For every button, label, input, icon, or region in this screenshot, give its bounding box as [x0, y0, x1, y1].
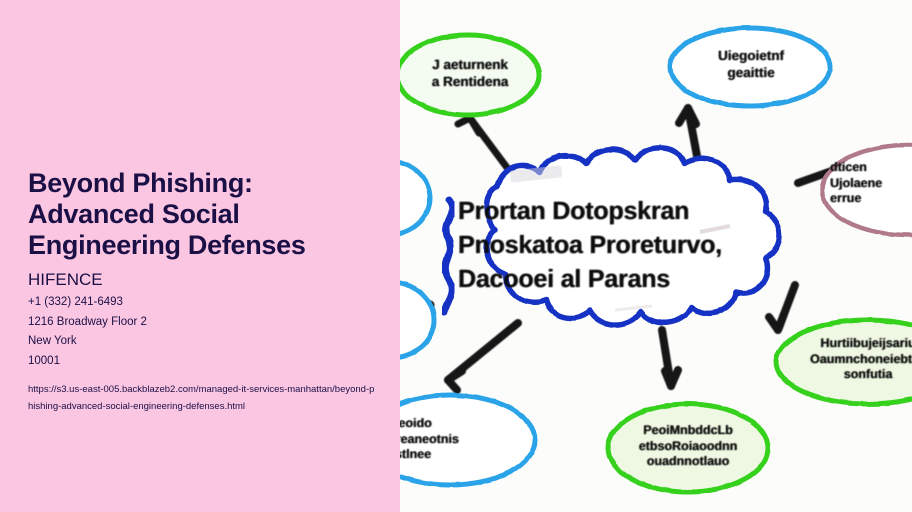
page-title: Beyond Phishing: Advanced Social Enginee… [28, 168, 380, 261]
branch-left-upper-blue [400, 161, 430, 235]
branch-right-mauve [822, 145, 912, 235]
blue-squiggle-accent [444, 200, 452, 312]
branch-bottom-left-blue [400, 395, 535, 485]
source-url: https://s3.us-east-005.backblazeb2.com/m… [28, 381, 376, 415]
branch-left-lower-blue [400, 282, 434, 358]
branch-bottom-green [608, 404, 768, 492]
panel-content: Beyond Phishing: Advanced Social Enginee… [28, 168, 380, 415]
brand-name: HIFENCE [28, 269, 380, 290]
mindmap-panel: Prortan Dotopskran Pnoskatoa Proreturvo,… [400, 0, 912, 512]
branch-top-left-green [400, 35, 539, 115]
poster-canvas: Beyond Phishing: Advanced Social Enginee… [0, 0, 912, 512]
address-line: 1216 Broadway Floor 2 [28, 313, 380, 333]
branch-top-right-blue [670, 28, 830, 106]
zip-line: 10001 [28, 352, 380, 372]
city-line: New York [28, 332, 380, 352]
mindmap-illustration [400, 0, 912, 512]
phone-number: +1 (332) 241-6493 [28, 293, 380, 313]
branch-right-green [776, 320, 912, 404]
left-info-panel: Beyond Phishing: Advanced Social Enginee… [0, 0, 400, 512]
